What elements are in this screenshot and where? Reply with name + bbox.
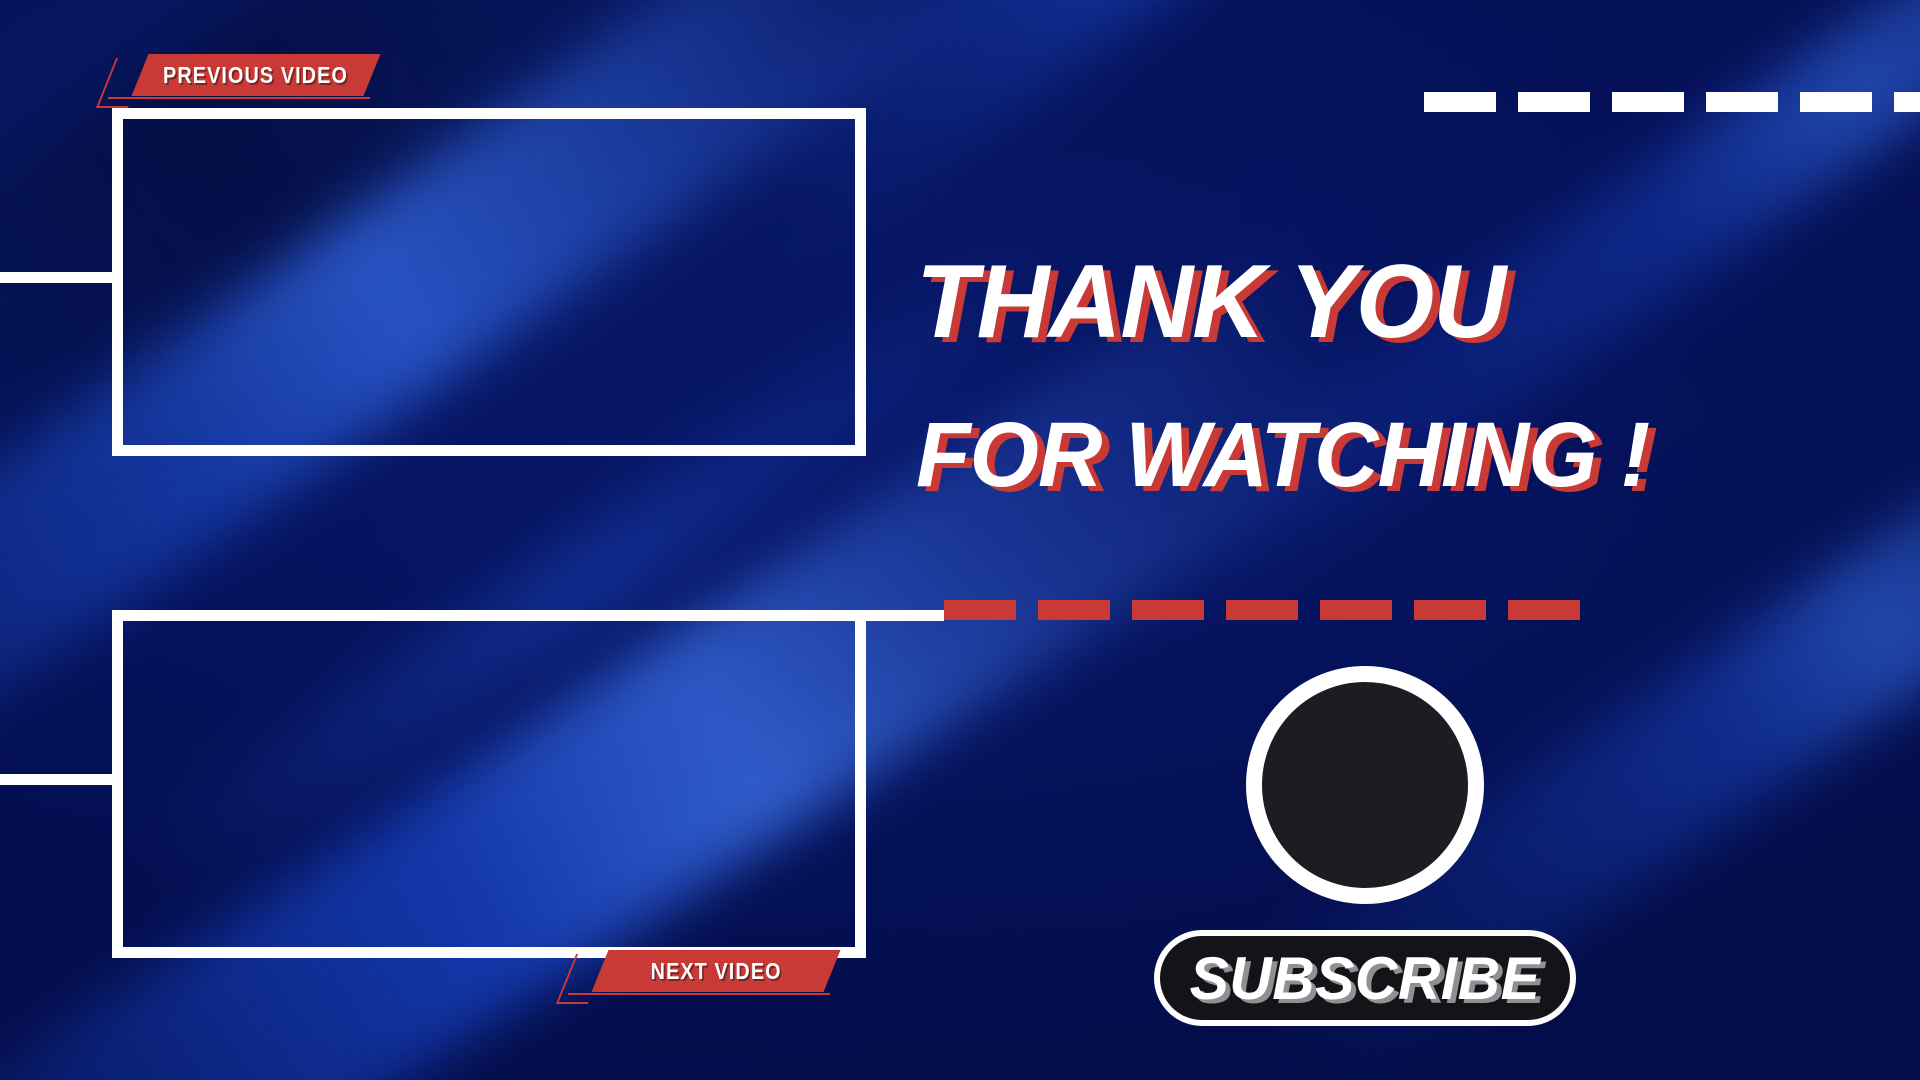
- previous-video-label: PREVIOUS VIDEO: [164, 62, 349, 89]
- white-dash-segment: [1894, 92, 1920, 112]
- white-dashed-rule: [1424, 92, 1920, 112]
- white-dash-segment: [1612, 92, 1684, 112]
- next-video-thumbnail-frame[interactable]: [112, 610, 866, 958]
- red-dash-segment: [944, 600, 1016, 620]
- white-dash-segment: [1706, 92, 1778, 112]
- headline-block: THANK YOU FOR WATCHING !: [916, 252, 1816, 500]
- red-dash-segment: [1132, 600, 1204, 620]
- next-video-ribbon[interactable]: NEXT VIDEO: [600, 950, 832, 992]
- red-dash-segment: [1320, 600, 1392, 620]
- red-dash-segment: [1038, 600, 1110, 620]
- headline-line-1: THANK YOU: [916, 252, 1789, 354]
- next-video-connector-line: [0, 774, 112, 785]
- red-dash-segment: [1226, 600, 1298, 620]
- headline-line-2: FOR WATCHING !: [916, 410, 1789, 500]
- red-dash-segment: [1508, 600, 1580, 620]
- white-dash-segment: [1424, 92, 1496, 112]
- next-video-label: NEXT VIDEO: [651, 958, 782, 985]
- red-dashed-rule: [944, 600, 1602, 620]
- previous-video-ribbon-underline: [108, 97, 370, 99]
- next-video-top-arm-line: [866, 610, 944, 621]
- subscribe-button[interactable]: SUBSCRIBE: [1154, 930, 1576, 1026]
- end-screen-canvas: PREVIOUS VIDEO NEXT VIDEO THANK YOU FOR …: [0, 0, 1920, 1080]
- channel-avatar[interactable]: [1246, 666, 1484, 904]
- white-dash-segment: [1518, 92, 1590, 112]
- subscribe-button-label: SUBSCRIBE: [1190, 944, 1541, 1013]
- previous-video-connector-line: [0, 272, 112, 283]
- previous-video-ribbon[interactable]: PREVIOUS VIDEO: [140, 54, 372, 96]
- next-video-ribbon-underline: [568, 993, 830, 995]
- red-dash-segment: [1414, 600, 1486, 620]
- white-dash-segment: [1800, 92, 1872, 112]
- previous-video-thumbnail-frame[interactable]: [112, 108, 866, 456]
